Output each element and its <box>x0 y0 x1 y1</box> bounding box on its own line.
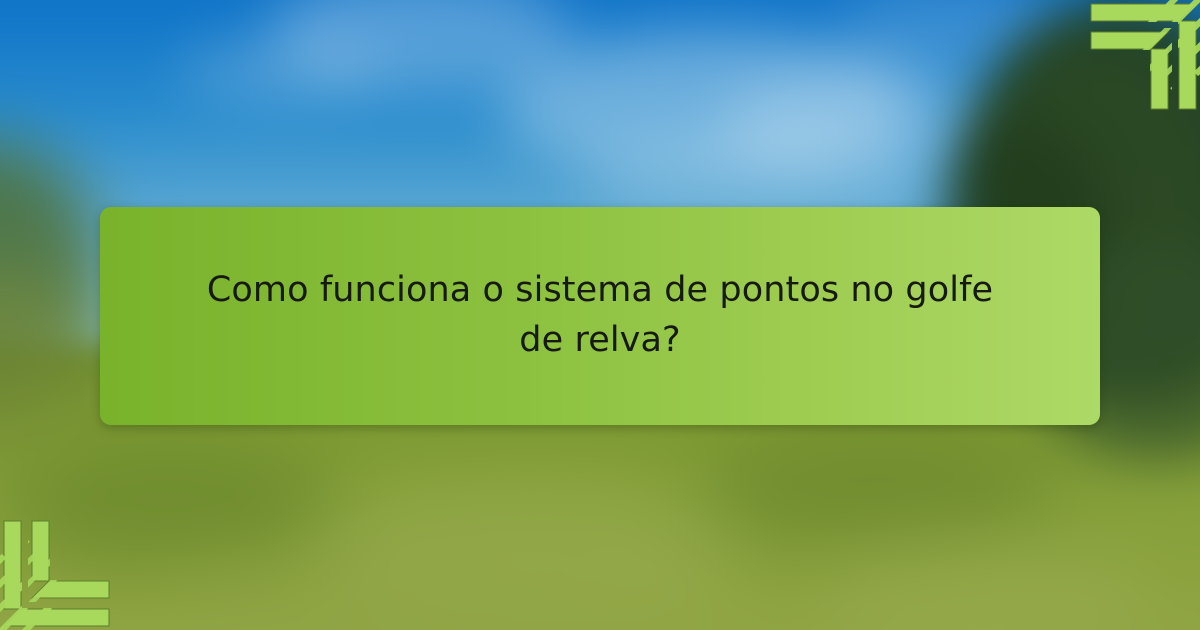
grass-patch <box>700 430 1060 550</box>
question-text: Como funciona o sistema de pontos no gol… <box>205 266 995 365</box>
social-card-canvas: Como funciona o sistema de pontos no gol… <box>0 0 1200 630</box>
grass-patch <box>0 440 340 570</box>
cloud-shape <box>180 35 380 105</box>
question-card: Como funciona o sistema de pontos no gol… <box>100 207 1100 425</box>
